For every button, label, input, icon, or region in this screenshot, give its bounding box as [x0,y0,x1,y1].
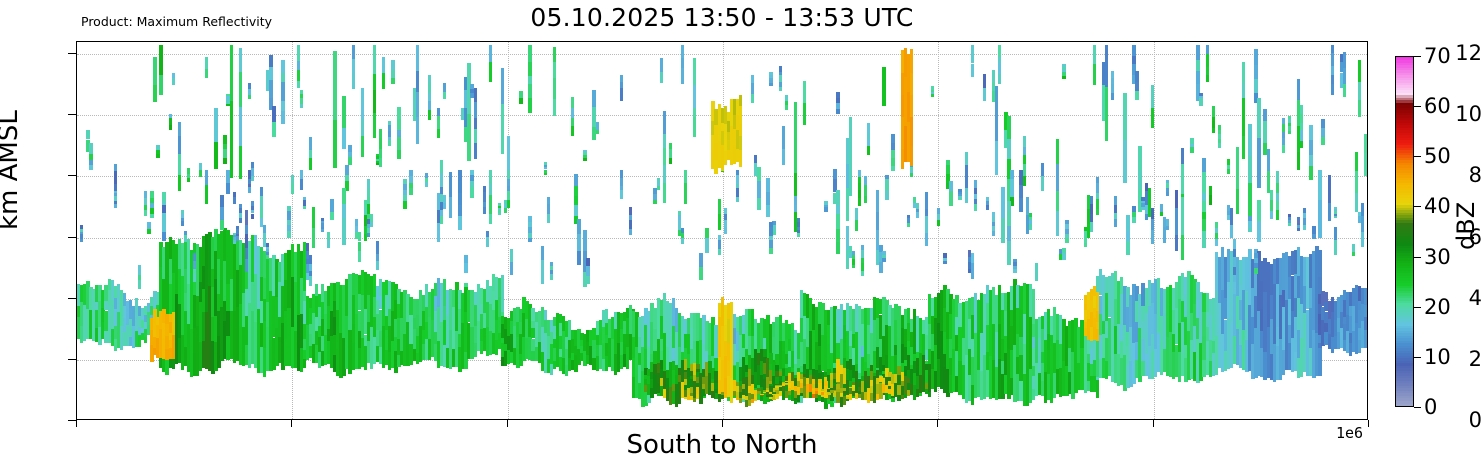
reflectivity-column [169,118,172,122]
reflectivity-column [574,186,577,196]
reflectivity-column [852,255,855,259]
reflectivity-column [910,95,913,117]
reflectivity-column [797,218,800,222]
reflectivity-column [321,229,324,232]
reflectivity-column [620,190,623,199]
reflectivity-column [1202,172,1205,193]
reflectivity-column [739,136,742,149]
reflectivity-column [373,74,376,90]
reflectivity-column [1312,226,1315,234]
reflectivity-column [705,238,708,252]
reflectivity-column [361,105,364,119]
reflectivity-column [1029,220,1032,225]
reflectivity-column [583,152,586,155]
reflectivity-column [333,120,336,168]
reflectivity-column [440,210,443,216]
reflectivity-column [416,45,419,71]
reflectivity-column [1019,170,1022,184]
reflectivity-column [757,388,760,391]
reflectivity-column [769,222,772,228]
reflectivity-column [620,88,623,94]
reflectivity-column [882,255,885,258]
reflectivity-column [577,251,580,265]
reflectivity-column [937,208,940,214]
reflectivity-column [833,169,836,179]
reflectivity-column [300,179,303,190]
reflectivity-column [147,222,150,227]
reflectivity-column [388,121,391,125]
reflectivity-column [1001,187,1004,217]
reflectivity-column [544,170,547,173]
reflectivity-column [766,192,769,205]
reflectivity-column [995,86,998,141]
reflectivity-column [769,80,772,83]
reflectivity-column [1254,65,1257,78]
colorbar-tick [1414,156,1421,157]
reflectivity-column [931,88,934,90]
reflectivity-column [772,393,775,394]
reflectivity-column [550,262,553,265]
reflectivity-column [769,384,772,387]
reflectivity-column [507,170,510,178]
reflectivity-column [775,388,778,389]
colorbar-tick [1414,106,1421,107]
reflectivity-column [300,170,303,179]
reflectivity-column [428,75,431,83]
reflectivity-column [943,258,946,261]
reflectivity-column [440,160,443,173]
reflectivity-column [1334,214,1337,216]
reflectivity-column [1145,205,1148,214]
reflectivity-column [772,225,775,231]
reflectivity-column [629,215,632,221]
reflectivity-column [281,101,284,112]
reflectivity-column [785,105,788,111]
reflectivity-column [528,216,531,222]
reflectivity-column [1367,87,1368,93]
reflectivity-column [266,252,269,255]
reflectivity-column [812,394,815,398]
reflectivity-column [1318,348,1321,375]
reflectivity-column [373,45,376,74]
reflectivity-column [718,249,721,255]
reflectivity-column [1123,140,1126,183]
reflectivity-column [114,164,117,171]
reflectivity-column [1114,205,1117,213]
reflectivity-column [785,101,788,105]
reflectivity-column [1138,170,1141,189]
reflectivity-column [958,198,961,200]
reflectivity-column [684,183,687,203]
reflectivity-column [544,165,547,167]
reflectivity-column [739,150,742,167]
reflectivity-column [172,335,175,358]
reflectivity-column [958,189,961,192]
reflectivity-column [1361,216,1364,232]
reflectivity-column [1206,67,1209,76]
reflectivity-column [757,181,760,198]
reflectivity-column [891,166,894,172]
reflectivity-column [541,260,544,284]
reflectivity-column [178,154,181,174]
reflectivity-column [925,233,928,246]
reflectivity-column [425,173,428,178]
reflectivity-column [550,277,553,280]
reflectivity-column [156,154,159,158]
reflectivity-column [1361,232,1364,247]
reflectivity-column [681,68,684,84]
reflectivity-column [498,213,501,215]
reflectivity-column [428,93,431,101]
reflectivity-column [1254,253,1257,257]
reflectivity-column [937,214,940,220]
reflectivity-column [1206,45,1209,54]
reflectivity-column [1242,98,1245,118]
reflectivity-column [138,265,141,275]
reflectivity-column [266,243,269,246]
reflectivity-column [474,102,477,117]
reflectivity-column [172,73,175,78]
reflectivity-column [269,55,272,67]
reflectivity-column [458,181,461,193]
reflectivity-column [437,116,440,129]
reflectivity-column [1270,211,1273,218]
reflectivity-column [355,219,358,226]
reflectivity-column [836,190,839,205]
reflectivity-column [678,220,681,225]
reflectivity-column [239,208,242,213]
reflectivity-column [1090,214,1093,223]
reflectivity-column [153,309,156,317]
reflectivity-column [345,181,348,192]
reflectivity-column [1145,214,1148,220]
reflectivity-column [861,258,864,263]
reflectivity-column [248,184,251,187]
reflectivity-column [1105,45,1108,87]
reflectivity-column [891,134,894,143]
reflectivity-column [769,240,772,248]
reflectivity-column [248,89,251,95]
reflectivity-column [358,232,361,242]
reflectivity-column [849,117,852,150]
reflectivity-column [1151,230,1154,244]
reflectivity-column [428,101,431,110]
reflectivity-column [836,103,839,109]
reflectivity-column [519,98,522,104]
reflectivity-column [150,208,153,214]
reflectivity-column [794,196,797,204]
colorbar-tick-label: 0 [1424,395,1437,419]
reflectivity-column [352,73,355,89]
reflectivity-column [309,150,312,158]
reflectivity-column [1041,176,1044,191]
reflectivity-column [483,186,486,192]
reflectivity-column [1145,183,1148,191]
reflectivity-column [1300,141,1303,147]
reflectivity-column [547,204,550,214]
reflectivity-column [321,227,324,229]
colorbar-tick [1414,56,1421,57]
reflectivity-column [553,47,556,62]
reflectivity-column [1300,114,1303,123]
reflectivity-column [553,99,556,116]
reflectivity-column [852,259,855,264]
reflectivity-column [1199,96,1202,99]
reflectivity-column [779,82,782,87]
reflectivity-column [992,226,995,231]
reflectivity-column [1138,146,1141,170]
reflectivity-column [470,187,473,191]
reflectivity-column [1181,235,1184,260]
reflectivity-column [528,233,531,238]
reflectivity-column [1029,224,1032,227]
reflectivity-column [1297,225,1300,228]
reflectivity-column [1111,78,1114,83]
reflectivity-column [361,88,364,105]
reflectivity-column [1215,233,1218,239]
reflectivity-column [1132,45,1135,56]
reflectivity-column [824,201,827,206]
reflectivity-column [1233,275,1236,282]
reflectivity-column [574,174,577,186]
reflectivity-column [321,221,324,223]
reflectivity-column [367,179,370,188]
reflectivity-column [1062,70,1065,73]
reflectivity-column [409,176,412,183]
reflectivity-column [272,106,275,122]
reflectivity-column [1062,67,1065,70]
reflectivity-column [1331,53,1334,66]
reflectivity-column [772,221,775,225]
reflectivity-column [882,90,885,106]
reflectivity-column [681,238,684,244]
reflectivity-column [361,119,364,135]
reflectivity-column [1010,170,1013,179]
reflectivity-column [1367,75,1368,80]
reflectivity-column [403,179,406,184]
reflectivity-column [1242,136,1245,159]
reflectivity-cross-section-plot [76,41,1368,420]
reflectivity-column [303,206,306,209]
reflectivity-column [663,148,666,165]
reflectivity-column [1297,223,1300,225]
reflectivity-column [367,228,370,232]
reflectivity-column [730,378,733,404]
reflectivity-column [965,165,968,188]
reflectivity-column [855,364,858,371]
reflectivity-column [1035,263,1038,272]
reflectivity-column [367,197,370,204]
reflectivity-column [1114,213,1117,218]
reflectivity-column [916,209,919,212]
reflectivity-column [626,360,629,370]
reflectivity-column [489,214,492,225]
reflectivity-column [1181,148,1184,164]
colorbar-tick-label: 70 [1424,44,1451,68]
reflectivity-column [1218,125,1221,130]
reflectivity-column [403,195,406,201]
reflectivity-column [730,328,733,352]
reflectivity-column [1013,269,1016,273]
reflectivity-column [663,134,666,148]
reflectivity-column [596,130,599,134]
reflectivity-column [1312,234,1315,239]
reflectivity-column [193,253,196,262]
reflectivity-column [1331,84,1334,95]
reflectivity-column [1166,188,1169,193]
reflectivity-column [470,181,473,187]
reflectivity-column [1114,196,1117,205]
reflectivity-column [184,231,187,236]
reflectivity-column [248,174,251,179]
reflectivity-column [705,228,708,238]
reflectivity-column [248,83,251,90]
reflectivity-column [464,263,467,273]
reflectivity-column [153,85,156,102]
reflectivity-column [1364,134,1367,153]
reflectivity-column [736,170,739,175]
reflectivity-column [498,203,501,205]
reflectivity-column [836,109,839,114]
reflectivity-column [1199,98,1202,101]
reflectivity-column [470,191,473,198]
reflectivity-column [449,172,452,197]
reflectivity-column [592,90,595,108]
reflectivity-column [1212,128,1215,133]
reflectivity-column [230,45,233,101]
reflectivity-column [1242,83,1245,98]
reflectivity-column [1199,93,1202,96]
reflectivity-column [583,150,586,152]
reflectivity-column [779,87,782,91]
reflectivity-column [1123,93,1126,140]
reflectivity-column [1343,68,1346,85]
reflectivity-column [443,83,446,92]
x-axis-tick [507,420,508,427]
reflectivity-column [855,220,858,230]
reflectivity-column [1267,149,1270,171]
reflectivity-column [498,208,501,210]
reflectivity-column [1254,268,1257,274]
reflectivity-column [797,230,800,233]
reflectivity-column [297,61,300,71]
reflectivity-column [187,168,190,173]
reflectivity-column [425,178,428,182]
reflectivity-column [489,45,492,62]
reflectivity-column [739,95,742,106]
reflectivity-column [187,178,190,182]
reflectivity-column [489,170,492,183]
colorbar-tick [1414,206,1421,207]
reflectivity-column [239,146,242,179]
reflectivity-column [397,137,400,150]
reflectivity-column [266,249,269,252]
reflectivity-column [1181,164,1184,193]
reflectivity-column [1202,231,1205,248]
reflectivity-column [986,197,989,200]
reflectivity-column [1331,66,1334,74]
reflectivity-column [782,149,785,165]
reflectivity-column [1334,227,1337,240]
reflectivity-column [1065,234,1068,238]
reflectivity-column [620,82,623,88]
reflectivity-column [779,75,782,82]
reflectivity-column [181,218,184,221]
reflectivity-column [891,158,894,166]
reflectivity-column [907,218,910,223]
reflectivity-column [693,71,696,86]
reflectivity-column [754,396,757,401]
reflectivity-column [507,191,510,200]
reflectivity-column [678,215,681,220]
reflectivity-column [1096,292,1099,301]
x-axis-tick [1153,420,1154,427]
reflectivity-column [251,201,254,205]
reflectivity-column [718,199,721,213]
reflectivity-column [342,218,345,229]
reflectivity-column [1132,212,1135,217]
reflectivity-column [348,145,351,152]
reflectivity-column [1227,159,1230,163]
reflectivity-column [1212,106,1215,111]
reflectivity-column [437,223,440,243]
reflectivity-column [403,201,406,208]
reflectivity-column [1041,163,1044,176]
reflectivity-column [458,170,461,181]
reflectivity-column [931,92,934,94]
reflectivity-column [205,69,208,79]
reflectivity-column [428,83,431,93]
reflectivity-column [730,302,733,328]
reflectivity-column [943,261,946,263]
reflectivity-column [1300,105,1303,115]
reflectivity-column [736,184,739,188]
reflectivity-column [1196,45,1199,60]
reflectivity-column [836,389,839,392]
reflectivity-column [916,203,919,209]
reflectivity-column [891,143,894,150]
reflectivity-column [1202,158,1205,172]
reflectivity-column [958,192,961,194]
reflectivity-column [223,158,226,164]
reflectivity-column [544,310,547,320]
reflectivity-column [248,170,251,174]
reflectivity-column [1276,201,1279,210]
reflectivity-column [1263,121,1266,142]
reflectivity-column [1218,139,1221,144]
reflectivity-column [1248,228,1251,232]
reflectivity-column [1343,84,1346,97]
reflectivity-column [885,179,888,185]
reflectivity-column [327,240,330,248]
reflectivity-column [169,114,172,118]
reflectivity-column [1160,209,1163,212]
reflectivity-column [309,158,312,170]
reflectivity-column [1132,217,1135,223]
reflectivity-column [1297,152,1300,169]
reflectivity-column [943,253,946,256]
reflectivity-column [1151,219,1154,230]
reflectivity-column [181,221,184,226]
reflectivity-column [239,218,242,223]
reflectivity-column [391,70,394,78]
reflectivity-column [1166,226,1169,231]
reflectivity-column [806,393,809,399]
reflectivity-column [663,183,666,203]
reflectivity-column [169,125,172,130]
reflectivity-column [1233,249,1236,257]
reflectivity-column [181,210,184,213]
